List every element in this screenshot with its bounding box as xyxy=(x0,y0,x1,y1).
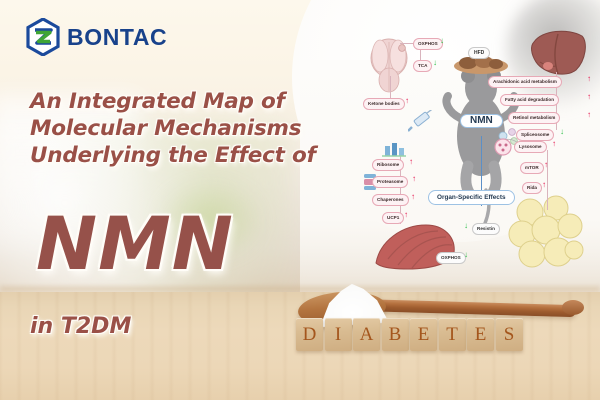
syringe-icon xyxy=(408,110,438,134)
letter-block: E xyxy=(410,318,437,351)
brand-logo: BONTAC xyxy=(26,18,167,56)
node-proteasome: Proteasome xyxy=(372,176,408,188)
mechanism-diagram: HFD NMN Organ-Specific Effects OXPHOS ↓ … xyxy=(360,14,600,284)
ribosome-icon xyxy=(382,142,406,158)
letter-block: B xyxy=(382,318,409,351)
node-arachidonic-label: Arachidonic acid metabolism xyxy=(493,78,557,86)
arrow-up-fatty-acid: ↑ xyxy=(587,93,591,101)
letter-block: I xyxy=(325,318,352,351)
arrow-down-oxphos-brain: ↓ xyxy=(440,37,444,45)
letter-block: D xyxy=(296,318,323,351)
connector-brain-oxphos xyxy=(400,43,413,44)
node-ribosome-label: Ribosome xyxy=(377,161,399,169)
arrow-down-tca: ↓ xyxy=(433,59,437,67)
letter-block: E xyxy=(467,318,494,351)
node-retinol-metabolism: Retinol metabolism xyxy=(508,112,560,124)
node-ketone-bodies: Ketone bodies xyxy=(363,98,405,110)
arrow-up-mtor: ↑ xyxy=(544,161,548,169)
spoon-handle-tip xyxy=(562,300,584,315)
diabetes-letter-blocks: D I A B E T E S xyxy=(296,318,523,351)
headline-line-1: An Integrated Map of xyxy=(30,88,340,115)
bontac-hexagon-logo-icon xyxy=(26,18,60,56)
arrow-up-proteasome: ↑ xyxy=(412,175,416,183)
headline-subline: in T2DM xyxy=(30,314,131,339)
lysosome-icon xyxy=(494,138,512,156)
arrow-down-spliceosome: ↓ xyxy=(560,128,564,136)
node-resistin-label: Resistin xyxy=(477,225,495,233)
poster-banner: BONTAC An Integrated Map of Molecular Me… xyxy=(0,0,600,400)
node-resistin: Resistin xyxy=(472,223,500,235)
node-chaperones: Chaperones xyxy=(372,194,409,206)
brand-name: BONTAC xyxy=(67,24,167,51)
node-tca-label: TCA xyxy=(418,62,427,70)
node-lysosome-label: Lysosome xyxy=(519,143,542,151)
node-hfd-label: HFD xyxy=(474,49,484,57)
brain-organ-icon xyxy=(366,36,412,98)
arrow-down-resistin: ↓ xyxy=(464,222,468,230)
node-tca: TCA xyxy=(413,60,432,72)
node-spliceosome: Spliceosome xyxy=(516,129,554,141)
arrow-up-ucp1: ↑ xyxy=(404,211,408,219)
node-organ-specific-effects: Organ-Specific Effects xyxy=(428,190,515,205)
node-oxphos-muscle-label: OXPHOS xyxy=(441,254,461,262)
node-ucp1-label: UCP1 xyxy=(387,214,399,222)
node-retinol-label: Retinol metabolism xyxy=(513,114,555,122)
arrow-up-retinol: ↑ xyxy=(587,111,591,119)
node-lysosome: Lysosome xyxy=(514,141,547,153)
arrow-up-ribosome: ↑ xyxy=(409,158,413,166)
headline-line-3: Underlying the Effect of xyxy=(30,142,340,169)
connector-brain-ketone xyxy=(390,76,391,100)
node-oxphos-muscle: OXPHOS xyxy=(436,252,466,264)
headline-emphasis-nmn: NMN xyxy=(36,208,234,281)
node-chaperones-label: Chaperones xyxy=(377,196,404,204)
node-proteasome-label: Proteasome xyxy=(377,178,403,186)
node-oxphos-brain: OXPHOS xyxy=(413,38,443,50)
node-rida-label: Rida xyxy=(527,184,537,192)
node-hfd: HFD xyxy=(468,47,490,59)
arrow-up-rida: ↑ xyxy=(542,181,546,189)
node-rida: Rida xyxy=(522,182,542,194)
node-arachidonic-acid-metabolism: Arachidonic acid metabolism xyxy=(488,76,562,88)
node-ketone-bodies-label: Ketone bodies xyxy=(368,100,400,108)
arrow-up-ketone-bodies: ↑ xyxy=(405,97,409,105)
arrow-up-chaperones: ↑ xyxy=(411,193,415,201)
node-organ-specific-effects-label: Organ-Specific Effects xyxy=(437,194,506,202)
letter-block: T xyxy=(439,318,466,351)
arrow-up-lysosome: ↑ xyxy=(552,140,556,148)
arrow-up-arachidonic: ↑ xyxy=(587,75,591,83)
headline-block: An Integrated Map of Molecular Mechanism… xyxy=(30,88,340,169)
headline-line-2: Molecular Mechanisms xyxy=(30,115,340,142)
node-fatty-acid-degradation: Fatty acid degradation xyxy=(500,94,559,106)
node-ucp1: UCP1 xyxy=(382,212,404,224)
node-oxphos-brain-label: OXPHOS xyxy=(418,40,438,48)
node-spliceosome-label: Spliceosome xyxy=(521,131,549,139)
letter-block: S xyxy=(496,318,523,351)
node-mtor-label: mTOR xyxy=(525,164,539,172)
node-fatty-acid-label: Fatty acid degradation xyxy=(505,96,554,104)
connector-adipose-vertical xyxy=(547,150,548,210)
node-nmn-label: NMN xyxy=(470,117,493,125)
node-ribosome: Ribosome xyxy=(372,159,404,171)
liver-organ-icon xyxy=(528,26,590,78)
node-mtor: mTOR xyxy=(520,162,544,174)
letter-block: A xyxy=(353,318,380,351)
arrow-down-oxphos-muscle: ↓ xyxy=(464,251,468,259)
